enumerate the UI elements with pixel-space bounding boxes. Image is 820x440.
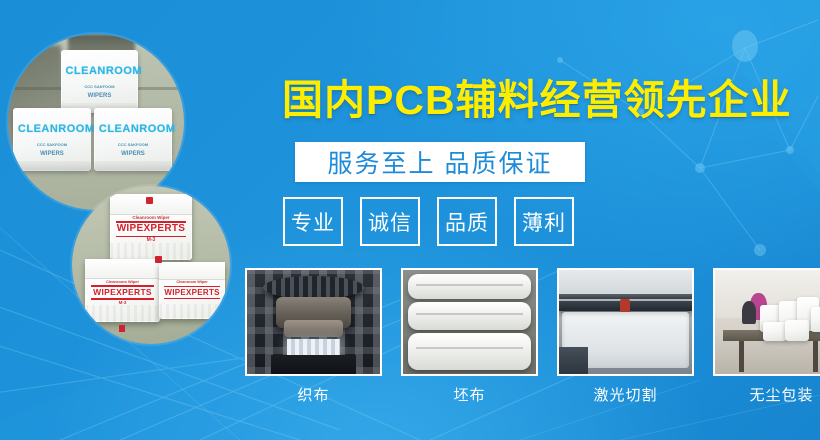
process-thumbnail-list: 织布 坯布 bbox=[245, 268, 820, 405]
pack-label: CLEANROOM bbox=[99, 124, 167, 135]
fabric-roll bbox=[408, 274, 530, 299]
process-thumbnail-cleanroom-packing: 无尘包装 bbox=[713, 268, 820, 405]
machine-base bbox=[271, 355, 356, 374]
box-pleats bbox=[110, 243, 192, 260]
table-leg bbox=[739, 341, 744, 372]
wipexperts-box-right: Cleanroom Wiper WIPEXPERTS bbox=[159, 262, 225, 319]
pack-subtitle-1: CCC SAKFOOM bbox=[61, 85, 138, 89]
subtitle-text: 服务至上 品质保证 bbox=[328, 144, 553, 180]
thumbnail-caption: 坯布 bbox=[401, 384, 538, 405]
product-photo-cleanroom-wipers: CLEANROOM CCC SAKFOOM WIPERS CLEANROOM C… bbox=[8, 34, 184, 210]
wipexperts-scene: Cleanroom Wiper WIPEXPERTS M-3 Cleanroom… bbox=[72, 186, 230, 344]
feature-tag-label: 薄利 bbox=[522, 207, 566, 237]
feature-tag-baoli: 薄利 bbox=[514, 197, 574, 246]
pack-label: CLEANROOM bbox=[18, 124, 86, 135]
cleanroom-packing-photo bbox=[715, 270, 820, 374]
box-top-face bbox=[159, 262, 225, 280]
box-tagline: Cleanroom Wiper bbox=[159, 281, 225, 285]
box-brand: WIPEXPERTS bbox=[88, 288, 158, 297]
machine-creel-ring bbox=[263, 276, 364, 299]
pack-ridge bbox=[94, 161, 171, 171]
thumbnail-frame bbox=[245, 268, 382, 376]
feature-tag-label: 品质 bbox=[445, 207, 489, 237]
thumbnail-frame bbox=[713, 268, 820, 376]
pack-subtitle-1: CCC SAKFOOM bbox=[13, 143, 90, 147]
feature-tag-label: 专业 bbox=[291, 207, 335, 237]
box-top-face bbox=[85, 259, 161, 279]
pack-subtitle-1: CCC SAKFOOM bbox=[94, 143, 171, 147]
machine-side-panel bbox=[559, 347, 588, 374]
worker-figure bbox=[742, 301, 757, 324]
fabric-rolls-photo bbox=[403, 270, 536, 374]
feature-tag-pinzhi: 品质 bbox=[437, 197, 497, 246]
box-red-mark-floor bbox=[119, 325, 125, 332]
wiper-bale bbox=[811, 307, 820, 332]
pack-ridge bbox=[13, 161, 90, 171]
box-brand: WIPEXPERTS bbox=[162, 289, 223, 297]
subtitle-box: 服务至上 品质保证 bbox=[295, 142, 585, 182]
pack-label: CLEANROOM bbox=[65, 66, 133, 77]
thumbnail-caption: 织布 bbox=[245, 384, 382, 405]
box-red-mark bbox=[146, 197, 153, 204]
wiper-bale bbox=[785, 320, 809, 341]
box-tagline: Cleanroom Wiper bbox=[110, 216, 192, 221]
process-thumbnail-greige-fabric: 坯布 bbox=[401, 268, 538, 405]
knitted-fabric bbox=[287, 339, 340, 356]
wiper-pack-top: CLEANROOM CCC SAKFOOM WIPERS bbox=[61, 50, 138, 113]
feature-tag-label: 诚信 bbox=[368, 207, 412, 237]
cleanroom-scene: CLEANROOM CCC SAKFOOM WIPERS CLEANROOM C… bbox=[8, 34, 184, 210]
wipexperts-box-top: Cleanroom Wiper WIPEXPERTS M-3 bbox=[110, 194, 192, 260]
box-rule-upper bbox=[116, 221, 185, 223]
feature-tag-chengxin: 诚信 bbox=[360, 197, 420, 246]
process-thumbnail-laser-cutting: 激光切割 bbox=[557, 268, 694, 405]
wiper-pack-right: CLEANROOM CCC SAKFOOM WIPERS bbox=[94, 108, 171, 171]
box-red-mark bbox=[155, 256, 162, 263]
box-rule-upper bbox=[164, 286, 220, 288]
machine-drum-lower bbox=[284, 320, 343, 337]
thumbnail-frame bbox=[401, 268, 538, 376]
knitting-machine-photo bbox=[247, 270, 380, 374]
wiper-pack-left: CLEANROOM CCC SAKFOOM WIPERS bbox=[13, 108, 90, 171]
box-pleats bbox=[85, 305, 161, 321]
thumbnail-caption: 激光切割 bbox=[557, 384, 694, 405]
wiper-bale bbox=[763, 322, 787, 341]
pack-subtitle-2: WIPERS bbox=[94, 151, 171, 157]
box-pleats bbox=[159, 304, 225, 319]
fabric-roll bbox=[408, 333, 530, 369]
promo-banner: CLEANROOM CCC SAKFOOM WIPERS CLEANROOM C… bbox=[0, 0, 820, 440]
product-photo-wipexperts: Cleanroom Wiper WIPEXPERTS M-3 Cleanroom… bbox=[72, 186, 230, 344]
feature-tag-zhuanye: 专业 bbox=[283, 197, 343, 246]
laser-cutter-photo bbox=[559, 270, 692, 374]
box-tagline: Cleanroom Wiper bbox=[85, 280, 161, 284]
box-rule-lower bbox=[164, 298, 220, 300]
feature-tag-list: 专业 诚信 品质 薄利 bbox=[283, 197, 574, 246]
process-thumbnail-weaving: 织布 bbox=[245, 268, 382, 405]
thumbnail-frame bbox=[557, 268, 694, 376]
fabric-roll bbox=[408, 302, 530, 330]
wipexperts-box-left: Cleanroom Wiper WIPEXPERTS M-3 bbox=[85, 259, 161, 322]
page-title: 国内PCB辅料经营领先企业 bbox=[282, 74, 792, 126]
box-brand: WIPEXPERTS bbox=[113, 224, 189, 234]
table-leg bbox=[813, 341, 818, 372]
pack-subtitle-2: WIPERS bbox=[13, 151, 90, 157]
pack-subtitle-2: WIPERS bbox=[61, 93, 138, 99]
thumbnail-caption: 无尘包装 bbox=[713, 384, 820, 405]
